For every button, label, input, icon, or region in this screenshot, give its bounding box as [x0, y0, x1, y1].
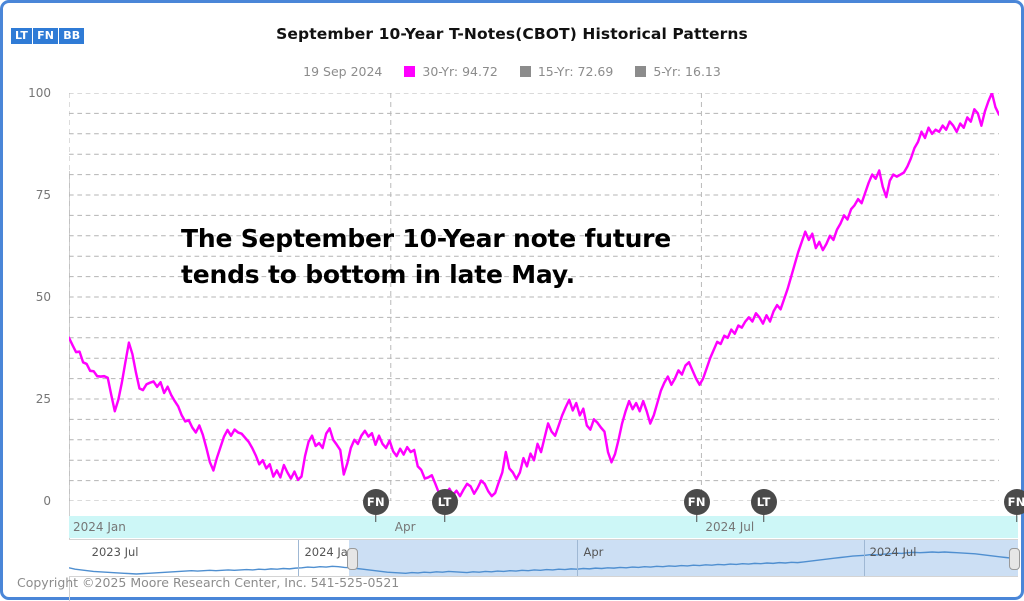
y-tick-label: 100 — [28, 86, 51, 100]
annotation-line-2: tends to bottom in late May. — [181, 257, 741, 293]
marker-bubble: LT — [432, 489, 458, 515]
marker-bubble: LT — [751, 489, 777, 515]
y-axis: 0255075100 — [3, 83, 55, 523]
x-tick-label: Apr — [395, 520, 416, 534]
legend-item-15yr[interactable]: 15-Yr: 72.69 — [520, 64, 613, 79]
navigator-handle-right[interactable] — [1009, 548, 1020, 570]
y-tick-label: 0 — [43, 494, 51, 508]
chart-annotation: The September 10-Year note future tends … — [181, 221, 741, 292]
legend-swatch-15yr — [520, 66, 531, 77]
navigator-divider — [864, 540, 865, 576]
y-tick-label: 75 — [36, 188, 51, 202]
event-marker-fn[interactable]: FN — [363, 489, 389, 515]
marker-bubble: FN — [363, 489, 389, 515]
copyright-footer: Copyright ©2025 Moore Research Center, I… — [17, 575, 399, 590]
chart-title: September 10-Year T-Notes(CBOT) Historic… — [3, 25, 1021, 43]
marker-bubble: FN — [1004, 489, 1024, 515]
event-marker-fn[interactable]: FN — [684, 489, 710, 515]
navigator-handle-left[interactable] — [347, 548, 358, 570]
legend-label-5yr: 5-Yr: 16.13 — [653, 64, 721, 79]
legend-date: 19 Sep 2024 — [303, 64, 382, 79]
plot-area: 0255075100 The September 10-Year note fu… — [3, 83, 1021, 523]
navigator-tick-label: 2024 Jul — [870, 545, 917, 559]
series-30yr-line — [69, 93, 999, 501]
plot-canvas — [69, 93, 999, 501]
annotation-line-1: The September 10-Year note future — [181, 221, 741, 257]
legend-label-30yr: 30-Yr: 94.72 — [422, 64, 497, 79]
navigator-tick-label: Apr — [583, 545, 603, 559]
x-tick-label: 2024 Jul — [705, 520, 754, 534]
navigator-divider — [298, 540, 299, 576]
chart-window: LT FN BB September 10-Year T-Notes(CBOT)… — [0, 0, 1024, 600]
y-tick-label: 25 — [36, 392, 51, 406]
x-axis-band — [69, 516, 1018, 538]
navigator-tick-label: 2023 Jul — [92, 545, 139, 559]
legend-swatch-30yr — [404, 66, 415, 77]
event-marker-lt[interactable]: LT — [751, 489, 777, 515]
range-navigator[interactable]: 2023 Jul2024 JanApr2024 Jul — [69, 539, 1018, 577]
marker-bubble: FN — [684, 489, 710, 515]
y-tick-label: 50 — [36, 290, 51, 304]
event-marker-lt[interactable]: LT — [432, 489, 458, 515]
chart-legend: 19 Sep 2024 30-Yr: 94.72 15-Yr: 72.69 5-… — [3, 64, 1021, 79]
event-marker-fn[interactable]: FN — [1004, 489, 1024, 515]
x-tick-label: 2024 Jan — [73, 520, 126, 534]
legend-item-5yr[interactable]: 5-Yr: 16.13 — [635, 64, 721, 79]
legend-label-15yr: 15-Yr: 72.69 — [538, 64, 613, 79]
legend-swatch-5yr — [635, 66, 646, 77]
navigator-divider — [577, 540, 578, 576]
legend-item-30yr[interactable]: 30-Yr: 94.72 — [404, 64, 497, 79]
